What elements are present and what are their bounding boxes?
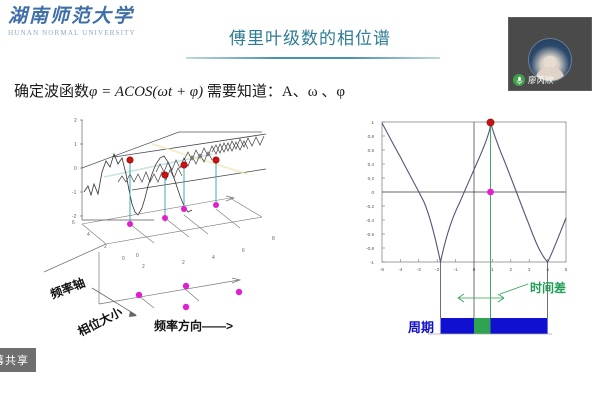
- svg-text:6: 6: [242, 248, 245, 254]
- svg-text:4: 4: [87, 232, 90, 238]
- page-title: 傅里叶级数的相位谱: [190, 24, 430, 49]
- svg-text:0: 0: [74, 166, 77, 172]
- svg-text:2: 2: [510, 267, 513, 272]
- svg-text:频率方向——>: 频率方向——>: [154, 318, 233, 333]
- phase-magnitude-label: 相位大小: [75, 304, 125, 339]
- slide-canvas: 湖南师范大学 HUNAN NORMAL UNIVERSITY 傅里叶级数的相位谱…: [0, 0, 600, 400]
- university-name-en: HUNAN NORMAL UNIVERSITY: [8, 29, 158, 37]
- svg-text:-0.8: -0.8: [366, 246, 374, 251]
- horizontal-tick-labels: 2 0 2 4 6 8: [136, 236, 275, 270]
- formula-prefix: 确定波函数: [14, 84, 89, 100]
- participant-name: 廖芮欣: [528, 74, 554, 86]
- time-difference-arrow: [458, 284, 528, 302]
- svg-text:8: 8: [272, 236, 275, 242]
- svg-text:-1: -1: [370, 260, 375, 265]
- title-underline: [186, 57, 440, 59]
- phase-projection-marker: [127, 202, 219, 227]
- svg-text:4: 4: [212, 255, 215, 261]
- participant-name-row: 廖芮欣: [513, 74, 554, 86]
- university-name-cn: 湖南师范大学: [8, 6, 158, 28]
- peak-marker: [487, 119, 494, 126]
- university-logo: 湖南师范大学 HUNAN NORMAL UNIVERSITY: [8, 6, 158, 50]
- svg-text:频率轴: 频率轴: [48, 275, 87, 302]
- svg-text:-1: -1: [454, 267, 459, 272]
- svg-text:-5: -5: [380, 267, 385, 272]
- video-participant-tile[interactable]: 廖芮欣: [508, 17, 592, 91]
- phase-spectrum-3d-chart: 2 1 0 -1 -2: [34, 112, 334, 340]
- formula-expression: φ = ACOS(ωt + φ): [89, 84, 203, 100]
- formula-line: 确定波函数φ = ACOS(ωt + φ) 需要知道：A、ω 、φ: [14, 80, 345, 101]
- frequency-axis-label: 频率轴: [48, 275, 87, 302]
- svg-text:1: 1: [491, 267, 494, 272]
- y-tick-labels: 1 0.8 0.6 0.4 0.2 0 -0.2 -0.4 -0.6 -0.8 …: [366, 120, 374, 265]
- svg-text:-3: -3: [417, 267, 422, 272]
- svg-text:0.6: 0.6: [368, 148, 375, 153]
- svg-text:1: 1: [74, 142, 77, 148]
- svg-text:-1: -1: [72, 190, 77, 196]
- svg-text:1: 1: [371, 120, 374, 125]
- svg-text:-4: -4: [398, 267, 403, 272]
- frequency-direction-label: 频率方向——>: [154, 318, 233, 333]
- period-offset-segment: [474, 318, 491, 334]
- svg-text:0: 0: [122, 256, 125, 262]
- svg-text:2: 2: [182, 260, 185, 266]
- cosine-period-chart: 1 0.8 0.6 0.4 0.2 0 -0.2 -0.4 -0.6 -0.8 …: [352, 112, 592, 344]
- svg-text:0.8: 0.8: [368, 134, 375, 139]
- phase-drop-line: [130, 160, 216, 224]
- vertical-tick-labels: 2 1 0 -1 -2: [72, 118, 77, 220]
- period-label: 周期: [408, 320, 434, 335]
- svg-text:-0.6: -0.6: [366, 232, 374, 237]
- zero-crossing-marker: [487, 189, 494, 196]
- svg-text:0: 0: [136, 253, 139, 259]
- svg-text:3: 3: [528, 267, 531, 272]
- svg-text:0: 0: [371, 190, 374, 195]
- svg-text:-2: -2: [435, 267, 440, 272]
- svg-text:2: 2: [74, 118, 77, 124]
- svg-text:0.4: 0.4: [368, 162, 375, 167]
- svg-text:6: 6: [72, 220, 75, 226]
- svg-text:2: 2: [142, 264, 145, 270]
- period-bar: [441, 318, 548, 334]
- microphone-icon[interactable]: [513, 74, 525, 86]
- svg-text:0.2: 0.2: [368, 176, 375, 181]
- svg-text:相位大小: 相位大小: [75, 304, 125, 339]
- svg-text:-0.4: -0.4: [366, 218, 374, 223]
- formula-suffix: 需要知道：A、ω 、φ: [207, 84, 345, 100]
- time-difference-label: 时间差: [530, 280, 566, 295]
- svg-text:-0.2: -0.2: [366, 204, 374, 209]
- status-badge: 幕共享: [0, 348, 36, 372]
- svg-text:5: 5: [565, 267, 568, 272]
